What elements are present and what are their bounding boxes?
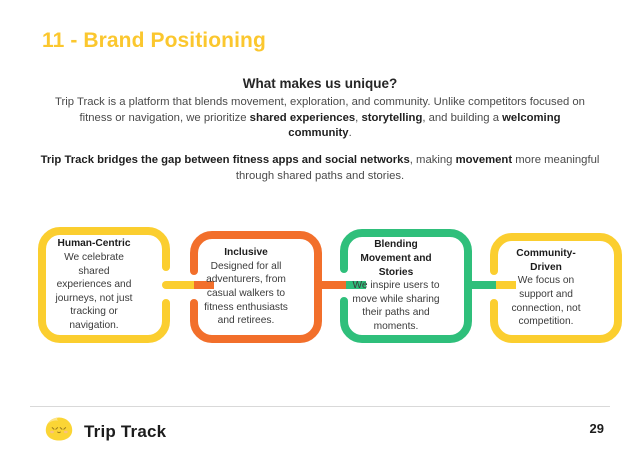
card-4-title: Community-Driven: [502, 247, 590, 274]
card-3-text: Blending Movement and Stories We inspire…: [352, 229, 440, 343]
intro-bold-shared-experiences: shared experiences: [250, 112, 356, 124]
card-3-title: Blending Movement and Stories: [352, 238, 440, 279]
card-2-body: Designed for all adventurers, from casua…: [202, 260, 290, 328]
card-1-body: We celebrate shared experiences and jour…: [50, 251, 138, 333]
card-chain: Human-Centric We celebrate shared experi…: [0, 0, 640, 452]
trip-track-blob-logo-icon: [44, 416, 74, 447]
footer-divider: [30, 406, 610, 407]
summary-bold-bridge: Trip Track bridges the gap between fitne…: [41, 154, 410, 166]
intro-text-d: .: [349, 127, 352, 139]
card-community-driven[interactable]: Community-Driven We focus on support and…: [490, 233, 602, 343]
summary-text-mid: , making: [410, 154, 456, 166]
page-number: 29: [590, 421, 604, 436]
intro-bold-storytelling: storytelling: [361, 112, 422, 124]
intro-text-c: , and building a: [422, 112, 502, 124]
blob-logo-svg: [44, 416, 74, 442]
card-1-title: Human-Centric: [57, 237, 130, 251]
intro-paragraph: Trip Track is a platform that blends mov…: [50, 95, 590, 142]
footer-brand: Trip Track: [44, 416, 166, 447]
intro-heading: What makes us unique?: [50, 76, 590, 91]
brand-name: Trip Track: [84, 422, 166, 442]
card-human-centric[interactable]: Human-Centric We celebrate shared experi…: [38, 227, 150, 343]
card-blending-movement-and-stories[interactable]: Blending Movement and Stories We inspire…: [340, 229, 452, 343]
card-2-text: Inclusive Designed for all adventurers, …: [202, 231, 290, 343]
intro-block: What makes us unique? Trip Track is a pl…: [50, 76, 590, 142]
card-3-body: We inspire users to move while sharing t…: [352, 279, 440, 333]
card-inclusive[interactable]: Inclusive Designed for all adventurers, …: [190, 231, 302, 343]
summary-paragraph: Trip Track bridges the gap between fitne…: [40, 153, 600, 184]
card-4-body: We focus on support and connection, not …: [502, 274, 590, 328]
page-title: 11 - Brand Positioning: [42, 29, 266, 53]
summary-bold-movement: movement: [456, 154, 513, 166]
card-2-title: Inclusive: [224, 246, 268, 260]
card-4-text: Community-Driven We focus on support and…: [502, 233, 590, 343]
card-1-text: Human-Centric We celebrate shared experi…: [50, 227, 138, 343]
